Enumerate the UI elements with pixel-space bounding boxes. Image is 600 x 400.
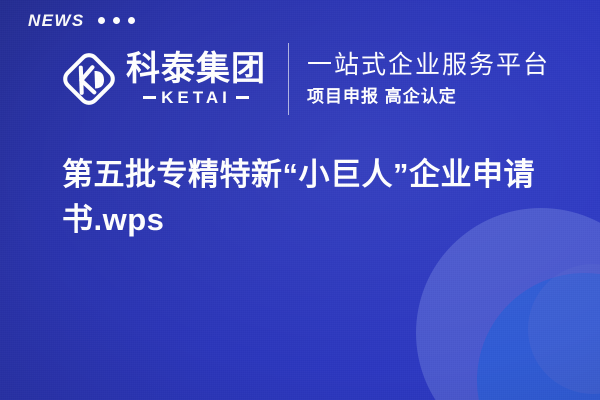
rule-right xyxy=(236,96,249,99)
tagline-main: 一站式企业服务平台 xyxy=(307,50,550,81)
brand-name-en-row: KETAI xyxy=(126,89,266,106)
brand-name-en: KETAI xyxy=(161,89,231,106)
page-title: 第五批专精特新“小巨人”企业申请书.wps xyxy=(62,152,562,243)
decorative-circle-soft xyxy=(528,264,600,394)
ketai-diamond-monogram-icon xyxy=(58,48,120,110)
rule-left xyxy=(143,96,156,99)
brand-name-cn: 科泰集团 xyxy=(126,52,266,88)
news-dot-icon xyxy=(113,17,120,24)
brand-divider xyxy=(288,43,289,115)
news-dot-icon xyxy=(98,17,105,24)
tagline: 一站式企业服务平台 项目申报 高企认定 xyxy=(307,50,550,108)
news-label: NEWS xyxy=(28,12,85,29)
news-dots-icon xyxy=(98,17,135,24)
brand-lockup: 科泰集团 KETAI 一站式企业服务平台 项目申报 高企认定 xyxy=(58,43,550,115)
news-dot-icon xyxy=(128,17,135,24)
news-banner: NEWS 科泰集团 KETAI xyxy=(0,0,600,400)
eyebrow: NEWS xyxy=(28,12,135,29)
tagline-sub: 项目申报 高企认定 xyxy=(307,87,550,107)
brand-wordmark: 科泰集团 KETAI xyxy=(126,52,266,106)
decorative-circle-bright xyxy=(477,273,600,400)
